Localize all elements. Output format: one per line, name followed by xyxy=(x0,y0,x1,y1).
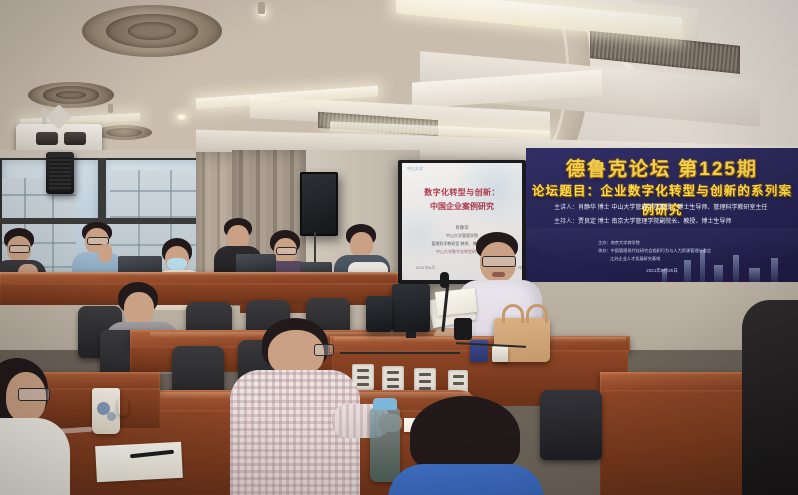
glasses xyxy=(18,388,50,401)
banner-host-text: 贾良定 博士 南京大学管理学院副院长、教授、博士生导师 xyxy=(578,219,731,225)
speaker-handout xyxy=(435,288,477,316)
chair[interactable] xyxy=(540,390,602,460)
banner-date: 2021年6月25日 xyxy=(526,268,798,274)
torso xyxy=(0,418,70,495)
speaker-glasses xyxy=(482,256,516,267)
small-box xyxy=(492,346,508,362)
banner-speaker-line: 主讲人：肖静华 博士 中山大学管理学院教授、博士生导师、管理科学教研室主任 xyxy=(554,202,767,211)
notepad xyxy=(95,442,183,482)
glasses xyxy=(314,344,334,356)
banner-subtitle: 论坛题目：企业数字化转型与创新的系列案例研究 xyxy=(526,180,798,218)
ceiling-sprinkler xyxy=(108,104,113,113)
monitor-stand xyxy=(406,330,416,338)
mug-pattern xyxy=(107,412,116,421)
torso xyxy=(742,300,798,495)
microphone-head xyxy=(440,272,449,288)
microphone-desk-unit xyxy=(454,318,472,340)
banner-host-label: 主持人： xyxy=(554,219,578,225)
ceramic-mug xyxy=(92,388,120,434)
banner-organizer-text: 南京大学商学院 xyxy=(611,240,640,245)
water-bottle xyxy=(370,408,400,482)
slide-title-line1: 数字化转型与创新： xyxy=(402,187,522,198)
torso xyxy=(388,464,544,495)
projector-lens xyxy=(36,132,58,145)
lecture-hall-photo: 中山大学 数字化转型与创新： 中国企业案例研究 肖静华 中山大学管理学院 管理科… xyxy=(0,0,798,495)
banner-coorganizer-text: 中国管理现代化研究会组织行为与人力资源管理分委会 xyxy=(611,248,712,253)
banner-coorganizer-line-2: 江苏企业人才发展研究基地 xyxy=(610,256,660,262)
desk-highlight xyxy=(0,272,398,276)
banner-coorganizer-line: 承办：中国管理现代化研究会组织行为与人力资源管理分委会 xyxy=(598,248,711,254)
projector-lens xyxy=(64,132,86,145)
slide-logo: 中山大学 xyxy=(407,166,423,172)
banner-host-line: 主持人：贾良定 博士 南京大学管理学院副院长、教授、博士生导师 xyxy=(554,216,731,225)
wall-speaker xyxy=(46,152,74,194)
tote-handle xyxy=(526,304,548,323)
mug-handle xyxy=(118,398,128,416)
banner-speaker-label: 主讲人： xyxy=(554,205,578,211)
event-banner: 德鲁克论坛 第125期 论坛题目：企业数字化转型与创新的系列案例研究 主讲人：肖… xyxy=(526,148,798,282)
banner-title: 德鲁克论坛 第125期 xyxy=(526,154,798,181)
hair xyxy=(410,396,520,474)
podium-monitor[interactable] xyxy=(392,284,430,332)
wall-tv xyxy=(300,172,338,236)
banner-speaker-text: 肖静华 博士 中山大学管理学院教授、博士生导师、管理科学教研室主任 xyxy=(578,205,767,211)
desk-power-outlet[interactable] xyxy=(382,366,404,392)
banner-organizer-label: 主办： xyxy=(598,240,611,245)
banner-coorganizer-label: 承办： xyxy=(598,248,611,253)
tote-handle xyxy=(502,304,524,323)
speaker-mouth xyxy=(492,272,505,277)
banner-organizer-line: 主办：南京大学商学院 xyxy=(598,240,640,246)
bottle-cap xyxy=(373,398,397,410)
slide-title-line2: 中国企业案例研究 xyxy=(402,201,522,212)
ceiling-sprinkler xyxy=(258,2,265,14)
ceiling-downlight xyxy=(176,114,187,120)
slide-presenter: 肖静华 xyxy=(402,225,522,231)
podium-monitor-secondary[interactable] xyxy=(366,296,392,332)
desk-cable xyxy=(340,352,460,354)
